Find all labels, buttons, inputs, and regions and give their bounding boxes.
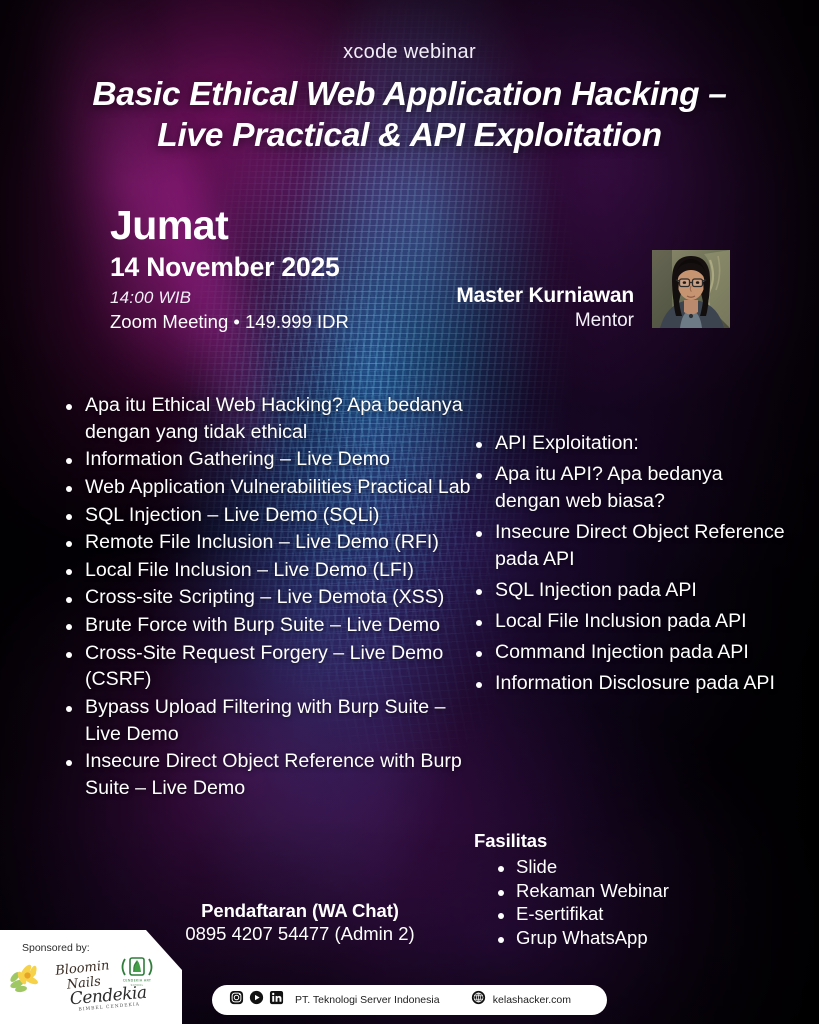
- list-item: Brute Force with Burp Suite – Live Demo: [60, 612, 480, 639]
- event-details: Jumat 14 November 2025 14:00 WIB Zoom Me…: [110, 203, 349, 333]
- list-item: API Exploitation:: [470, 430, 790, 457]
- brand-eyebrow: xcode webinar: [0, 41, 819, 64]
- avatar: [652, 250, 730, 328]
- flower-icon: [10, 962, 46, 999]
- svg-text:CENDEKIA ART: CENDEKIA ART: [123, 979, 152, 983]
- mentor-portrait-image: [652, 250, 730, 328]
- registration-block: Pendaftaran (WA Chat) 0895 4207 54477 (A…: [140, 900, 460, 945]
- mentor-name: Master Kurniawan: [434, 284, 634, 308]
- event-platform-price: Zoom Meeting • 149.999 IDR: [110, 311, 349, 333]
- list-item: Cross-site Scripting – Live Demota (XSS): [60, 584, 480, 611]
- list-item: Slide: [494, 855, 774, 879]
- facilities-list: Slide Rekaman Webinar E-sertifikat Grup …: [474, 855, 774, 950]
- list-item: Information Gathering – Live Demo: [60, 446, 480, 473]
- webinar-poster: xcode webinar Basic Ethical Web Applicat…: [0, 0, 819, 1024]
- list-item: Rekaman Webinar: [494, 879, 774, 903]
- list-item: Grup WhatsApp: [494, 926, 774, 950]
- registration-title: Pendaftaran (WA Chat): [140, 900, 460, 922]
- sponsor-panel: Sponsored by:: [0, 930, 182, 1024]
- list-item: SQL Injection pada API: [470, 577, 790, 604]
- sponsor-label: Sponsored by:: [22, 942, 90, 954]
- list-item: Cross-Site Request Forgery – Live Demo (…: [60, 640, 480, 693]
- list-item: Local File Inclusion – Live Demo (LFI): [60, 557, 480, 584]
- facilities-section: Fasilitas Slide Rekaman Webinar E-sertif…: [474, 830, 774, 950]
- facilities-title: Fasilitas: [474, 830, 774, 852]
- event-date: 14 November 2025: [110, 251, 349, 283]
- list-item: SQL Injection – Live Demo (SQLi): [60, 502, 480, 529]
- globe-icon: [471, 990, 486, 1010]
- title-line-1: Basic Ethical Web Application Hacking –: [40, 74, 779, 115]
- event-time: 14:00 WIB: [110, 288, 349, 308]
- event-day: Jumat: [110, 203, 349, 247]
- youtube-icon[interactable]: [249, 990, 264, 1010]
- list-item: Insecure Direct Object Reference pada AP…: [470, 519, 790, 573]
- list-item: Local File Inclusion pada API: [470, 608, 790, 635]
- registration-phone[interactable]: 0895 4207 54477 (Admin 2): [140, 923, 460, 945]
- topics-list-right: API Exploitation: Apa itu API? Apa bedan…: [470, 430, 790, 701]
- list-item: Bypass Upload Filtering with Burp Suite …: [60, 694, 480, 747]
- title-line-2: Live Practical & API Exploitation: [40, 115, 779, 156]
- list-item: Information Disclosure pada API: [470, 670, 790, 697]
- footer-bar: PT. Teknologi Server Indonesia: [212, 985, 607, 1015]
- topics-list-left: Apa itu Ethical Web Hacking? Apa bedanya…: [60, 392, 480, 803]
- sponsor-cendekia-signature: Cendekia BIMBEL CENDEKIA: [69, 983, 148, 1014]
- list-item: Insecure Direct Object Reference with Bu…: [60, 748, 480, 801]
- list-item: Command Injection pada API: [470, 639, 790, 666]
- company-name: PT. Teknologi Server Indonesia: [295, 994, 440, 1006]
- list-item: Web Application Vulnerabilities Practica…: [60, 474, 480, 501]
- list-item: Apa itu Ethical Web Hacking? Apa bedanya…: [60, 392, 480, 445]
- instagram-icon[interactable]: [229, 990, 244, 1010]
- mentor-role: Mentor: [434, 310, 634, 332]
- list-item: Apa itu API? Apa bedanya dengan web bias…: [470, 461, 790, 515]
- list-item: Remote File Inclusion – Live Demo (RFI): [60, 529, 480, 556]
- website-url[interactable]: kelashacker.com: [493, 994, 571, 1006]
- linkedin-icon[interactable]: [269, 990, 284, 1010]
- list-item: E-sertifikat: [494, 902, 774, 926]
- page-title: Basic Ethical Web Application Hacking – …: [40, 74, 779, 156]
